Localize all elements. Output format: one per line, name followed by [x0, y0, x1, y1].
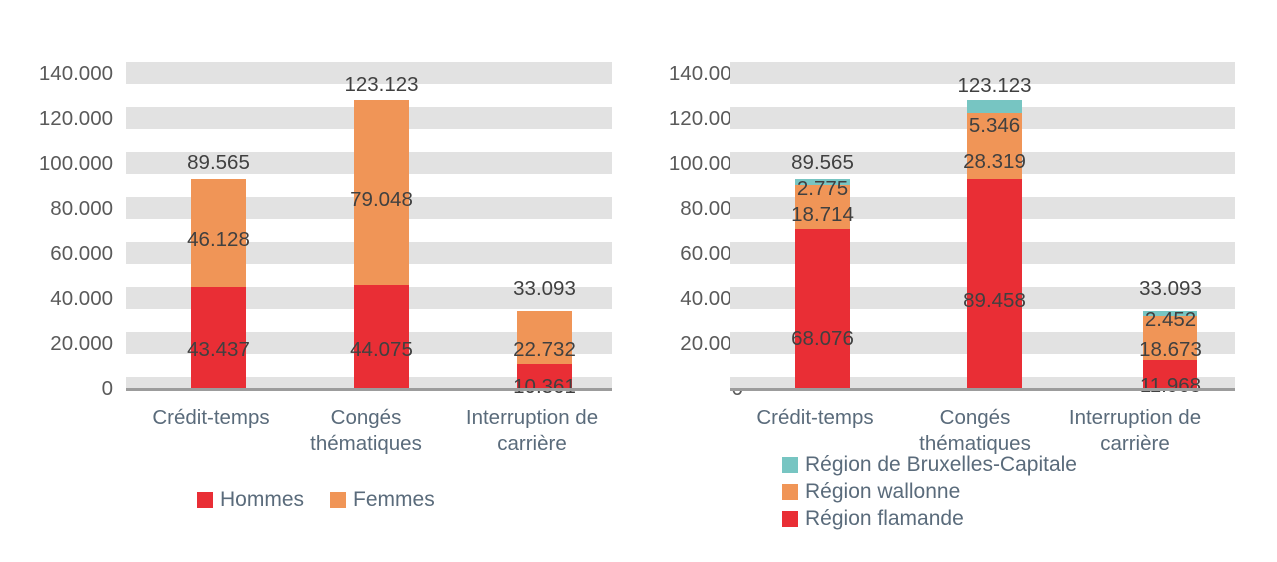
legend-swatch-icon	[782, 484, 798, 500]
x-axis-label-conges-thematiques: Congés thématiques	[905, 405, 1045, 457]
bar-segment-hommes[interactable]	[517, 364, 572, 388]
y-tick-label: 140.000	[0, 62, 113, 86]
bar-total-label: 123.123	[329, 73, 434, 97]
x-axis-line	[126, 388, 612, 391]
bar-stack[interactable]	[795, 179, 850, 388]
x-axis-label-credit-temps: Crédit-temps	[126, 405, 296, 431]
bar-stack[interactable]	[1143, 311, 1197, 388]
y-tick-label: 100.000	[630, 152, 743, 176]
bar-stack[interactable]	[517, 311, 572, 388]
bar-segment-region-bruxelles[interactable]	[967, 100, 1022, 113]
bar-segment-region-flamande[interactable]	[967, 179, 1022, 388]
legend-swatch-icon	[197, 492, 213, 508]
y-tick-label: 0	[630, 377, 743, 401]
bar-segment-femmes[interactable]	[191, 179, 246, 287]
y-tick-label: 120.000	[630, 107, 743, 131]
chart-panel-region: 140.000 120.000 100.000 80.000 60.000 40…	[630, 0, 1277, 562]
legend-item-hommes[interactable]: Hommes	[197, 488, 304, 512]
bar-total-label: 33.093	[492, 277, 597, 301]
bar-segment-femmes[interactable]	[517, 311, 572, 364]
bar-segment-region-wallonne[interactable]	[795, 185, 850, 229]
legend-region: Région de Bruxelles-Capitale Région wall…	[782, 453, 1077, 534]
bar-total-label: 89.565	[770, 151, 875, 175]
legend-gender: Hommes Femmes	[197, 488, 435, 512]
bar-segment-region-bruxelles[interactable]	[1143, 311, 1197, 317]
legend-label: Région de Bruxelles-Capitale	[805, 453, 1077, 477]
y-tick-label: 40.000	[0, 287, 113, 311]
bar-segment-femmes[interactable]	[354, 100, 409, 285]
bar-total-label: 89.565	[166, 151, 271, 175]
y-tick-label: 60.000	[0, 242, 113, 266]
y-tick-label: 20.000	[0, 332, 113, 356]
x-axis-label-credit-temps: Crédit-temps	[730, 405, 900, 431]
legend-swatch-icon	[782, 511, 798, 527]
y-tick-label: 80.000	[0, 197, 113, 221]
legend-swatch-icon	[330, 492, 346, 508]
bar-segment-hommes[interactable]	[191, 287, 246, 389]
y-tick-label: 0	[0, 377, 113, 401]
plot-area-region: 68.076 18.714 2.775 89.565 89.458 28.319…	[730, 61, 1235, 388]
y-tick-label: 40.000	[630, 287, 743, 311]
bar-segment-region-bruxelles[interactable]	[795, 179, 850, 186]
chart-panel-gender: 140.000 120.000 100.000 80.000 60.000 40…	[0, 0, 630, 562]
plot-area-gender: 43.437 46.128 89.565 44.075 79.048 123.1…	[126, 61, 612, 388]
bar-segment-hommes[interactable]	[354, 285, 409, 388]
y-tick-label: 140.000	[630, 62, 743, 86]
y-tick-label: 120.000	[0, 107, 113, 131]
chart-canvas: 140.000 120.000 100.000 80.000 60.000 40…	[0, 0, 1277, 562]
legend-label: Région flamande	[805, 507, 964, 531]
bar-segment-region-wallonne[interactable]	[967, 113, 1022, 179]
y-tick-label: 80.000	[630, 197, 743, 221]
bar-total-label: 33.093	[1118, 277, 1223, 301]
bar-stack[interactable]	[967, 100, 1022, 388]
x-axis-label-interruption-carriere: Interruption de carrière	[1055, 405, 1215, 457]
bar-segment-region-flamande[interactable]	[1143, 360, 1197, 388]
legend-swatch-icon	[782, 457, 798, 473]
bar-segment-region-flamande[interactable]	[795, 229, 850, 388]
bar-stack[interactable]	[191, 179, 246, 388]
legend-label: Région wallonne	[805, 480, 960, 504]
x-axis-line	[730, 388, 1235, 391]
bar-stack[interactable]	[354, 100, 409, 388]
bar-total-label: 123.123	[942, 74, 1047, 98]
legend-item-region-wallonne[interactable]: Région wallonne	[782, 480, 1077, 504]
y-tick-label: 60.000	[630, 242, 743, 266]
x-axis-label-interruption-carriere: Interruption de carrière	[452, 405, 612, 457]
legend-item-region-bruxelles[interactable]: Région de Bruxelles-Capitale	[782, 453, 1077, 477]
legend-item-femmes[interactable]: Femmes	[330, 488, 435, 512]
legend-item-region-flamande[interactable]: Région flamande	[782, 507, 1077, 531]
y-tick-label: 20.000	[630, 332, 743, 356]
x-axis-label-conges-thematiques: Congés thématiques	[296, 405, 436, 457]
y-tick-label: 100.000	[0, 152, 113, 176]
bar-segment-region-wallonne[interactable]	[1143, 316, 1197, 360]
legend-label: Hommes	[220, 488, 304, 512]
legend-label: Femmes	[353, 488, 435, 512]
